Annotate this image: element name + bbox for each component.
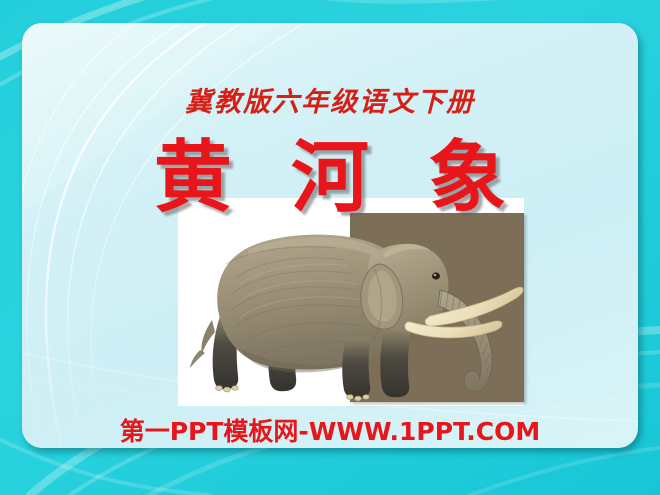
slide-inner-panel: 冀教版六年级语文下册 黄 河 象 [22,23,638,448]
slide-subtitle: 冀教版六年级语文下册 [22,80,638,119]
watermark-text: 第一PPT模板网-WWW.1PPT.COM [22,412,638,448]
lesson-illustration [178,198,524,406]
elephant-illustration-icon [178,198,524,406]
presentation-slide: 冀教版六年级语文下册 黄 河 象 [0,0,660,495]
slide-main-title: 黄 河 象 [22,139,638,217]
